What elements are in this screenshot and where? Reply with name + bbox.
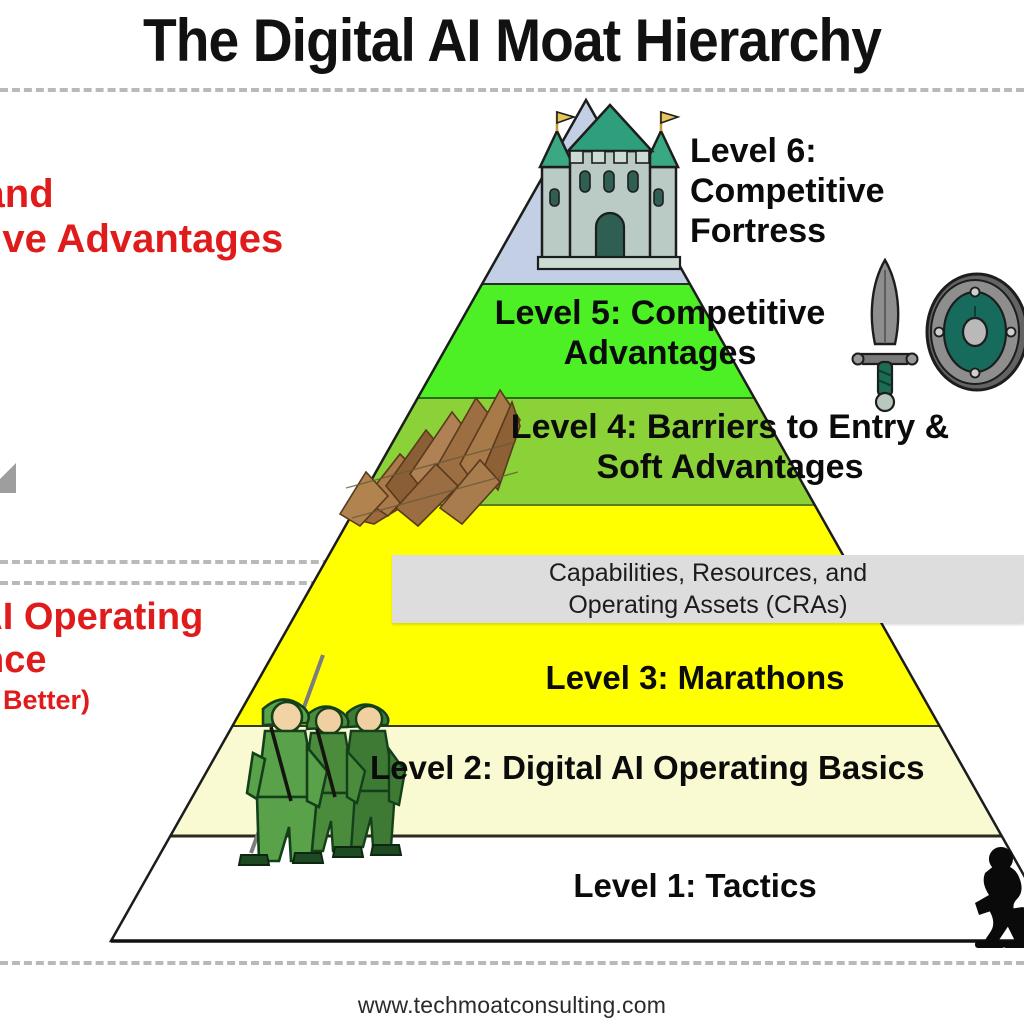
pyramid-label-level5-line1: Level 5: Competitive [460,293,860,333]
footer-url: www.techmoatconsulting.com [0,992,1024,1019]
group-label-barriers: Barriers and Competitive Advantages [0,172,283,262]
group-label-barriers-line1: Barriers and [0,172,283,217]
castle-icon [538,105,680,269]
pyramid-label-level4-line1: Level 4: Barriers to Entry & [430,407,1024,447]
sword-icon [853,260,918,411]
pyramid-label-level6: Level 6: Competitive Fortress [690,131,1020,251]
slide-canvas: The Digital AI Moat Hierarchy [0,0,1024,1024]
pyramid-label-level5: Level 5: Competitive Advantages [460,293,860,373]
cra-callout-box: Capabilities, Resources, and Operating A… [392,555,1024,623]
pyramid-label-level4-line2: Soft Advantages [430,447,1024,487]
group-label-operating-line2: Excellence [0,639,203,682]
pyramid-label-level2: Level 2: Digital AI Operating Basics [370,749,1024,788]
pyramid-label-level6-line2: Competitive [690,171,1020,211]
pyramid-label-level6-line1: Level 6: [690,131,1020,171]
group-label-operating-line1: Digital AI Operating [0,596,203,639]
group-label-operating-excellence: Digital AI Operating Excellence (Faster … [0,596,203,715]
group-label-operating-line3: (Faster and Better) [0,685,203,715]
pyramid-label-level1: Level 1: Tactics [430,867,960,906]
pyramid-label-level5-line2: Advantages [460,333,860,373]
cra-callout-line2: Operating Assets (CRAs) [549,589,867,621]
group-label-barriers-line2: Competitive Advantages [0,217,283,262]
shield-icon [927,274,1024,390]
pyramid-label-level4: Level 4: Barriers to Entry & Soft Advant… [430,407,1024,487]
cra-callout-line1: Capabilities, Resources, and [549,557,867,589]
pyramid-label-level6-line3: Fortress [690,211,1020,251]
pyramid-label-level3: Level 3: Marathons [430,659,960,698]
